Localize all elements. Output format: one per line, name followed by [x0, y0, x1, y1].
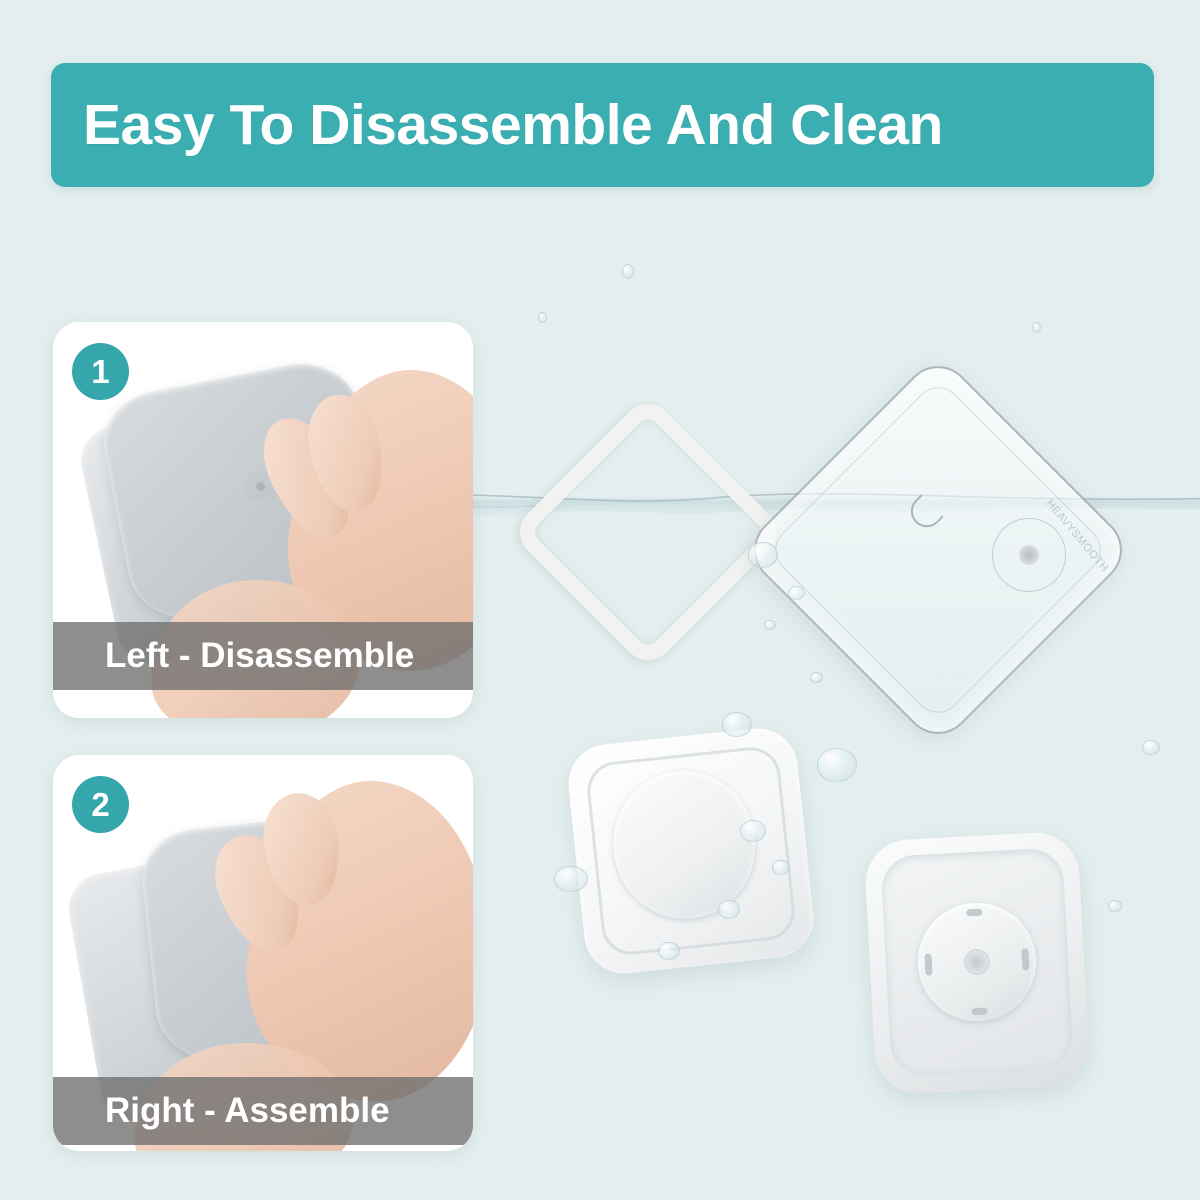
- water-droplet: [1108, 900, 1122, 912]
- water-droplet: [554, 866, 588, 892]
- lid-hub-slot: [971, 1008, 987, 1016]
- lid-hub-slot: [1021, 948, 1029, 970]
- transparent-container-body: [740, 352, 1136, 748]
- water-droplet: [772, 860, 790, 875]
- step-1-caption-bar: Left - Disassemble: [53, 622, 473, 690]
- step-2-caption-bar: Right - Assemble: [53, 1077, 473, 1145]
- step-card-1: 1 Left - Disassemble: [53, 322, 473, 718]
- lid-hub: [915, 900, 1039, 1024]
- water-droplet: [718, 900, 740, 919]
- water-droplet: [764, 620, 776, 630]
- water-droplet: [1032, 322, 1041, 333]
- water-droplet: [748, 542, 778, 568]
- white-lid-top: [565, 725, 818, 978]
- lid-hub-slot: [966, 909, 982, 917]
- step-number: 1: [91, 355, 109, 388]
- silicone-sealing-ring: [509, 393, 786, 670]
- water-droplet: [622, 264, 634, 279]
- page-title-banner: Easy To Disassemble And Clean: [51, 63, 1154, 187]
- step-2-caption: Right - Assemble: [53, 1091, 390, 1131]
- lid-hub-slot: [924, 953, 932, 975]
- lid-center-gear: [965, 950, 988, 973]
- lid-underside-cavity: [880, 847, 1073, 1076]
- water-droplet: [658, 942, 680, 960]
- step-1-caption: Left - Disassemble: [53, 636, 414, 676]
- water-droplet: [810, 672, 823, 683]
- water-droplet: [722, 712, 752, 737]
- step-number: 2: [91, 788, 109, 821]
- water-droplet: [1142, 740, 1160, 755]
- lid-vent: [256, 482, 265, 491]
- water-droplet: [817, 748, 857, 782]
- page-title: Easy To Disassemble And Clean: [51, 92, 943, 158]
- water-droplet: [788, 586, 805, 600]
- water-droplet: [740, 820, 766, 842]
- water-droplet: [538, 312, 547, 323]
- hero-product-scene: HEAVYSMOOTH: [472, 200, 1200, 1200]
- white-lid-underside: [864, 831, 1091, 1096]
- step-badge-2: 2: [72, 776, 129, 833]
- step-badge-1: 1: [72, 343, 129, 400]
- step-card-2: 2 Right - Assemble: [53, 755, 473, 1151]
